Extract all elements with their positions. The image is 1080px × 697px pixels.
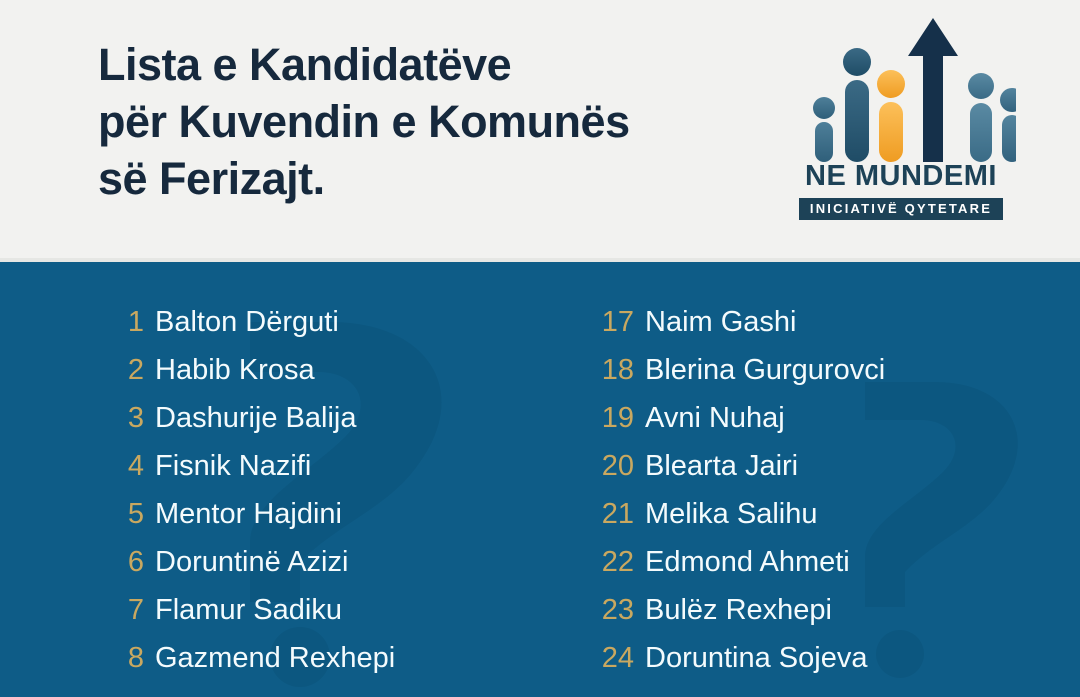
candidate-name: Gazmend Rexhepi [155,642,395,675]
candidate-name: Edmond Ahmeti [645,546,850,579]
candidate-number: 8 [98,642,144,675]
candidate-number: 18 [588,354,634,387]
list-item: 5 Mentor Hajdini [98,498,528,546]
list-item: 6 Doruntinë Azizi [98,546,528,594]
list-item: 4 Fisnik Nazifi [98,450,528,498]
candidate-list-body: 1 Balton Dërguti 2 Habib Krosa 3 Dashuri… [0,262,1080,697]
list-item: 7 Flamur Sadiku [98,594,528,642]
candidate-name: Dashurije Balija [155,402,357,435]
logo-tagline: INICIATIVË QYTETARE [799,198,1003,220]
people-arrow-logo-icon [786,14,1016,162]
candidate-name: Blerina Gurgurovci [645,354,885,387]
list-item: 24 Doruntina Sojeva [588,642,1038,690]
list-item: 1 Balton Dërguti [98,306,528,354]
list-item: 22 Edmond Ahmeti [588,546,1038,594]
candidate-number: 2 [98,354,144,387]
candidate-columns: 1 Balton Dërguti 2 Habib Krosa 3 Dashuri… [0,262,1080,697]
candidate-name: Mentor Hajdini [155,498,342,531]
poster-header: Lista e Kandidatëve për Kuvendin e Komun… [0,0,1080,260]
candidate-number: 23 [588,594,634,627]
candidate-number: 7 [98,594,144,627]
list-item: 20 Blearta Jairi [588,450,1038,498]
list-item: 2 Habib Krosa [98,354,528,402]
candidate-number: 17 [588,306,634,339]
candidate-name: Naim Gashi [645,306,797,339]
candidate-column-right: 17 Naim Gashi 18 Blerina Gurgurovci 19 A… [588,306,1038,690]
candidate-name: Doruntina Sojeva [645,642,867,675]
candidate-number: 21 [588,498,634,531]
list-item: 3 Dashurije Balija [98,402,528,450]
candidate-number: 4 [98,450,144,483]
title-line-1: Lista e Kandidatëve [98,36,738,93]
candidate-number: 1 [98,306,144,339]
candidate-column-left: 1 Balton Dërguti 2 Habib Krosa 3 Dashuri… [98,306,528,690]
candidate-list-poster: Lista e Kandidatëve për Kuvendin e Komun… [0,0,1080,697]
candidate-number: 5 [98,498,144,531]
candidate-name: Avni Nuhaj [645,402,785,435]
list-item: 23 Bulëz Rexhepi [588,594,1038,642]
candidate-name: Habib Krosa [155,354,315,387]
list-item: 18 Blerina Gurgurovci [588,354,1038,402]
candidate-name: Bulëz Rexhepi [645,594,832,627]
list-item: 17 Naim Gashi [588,306,1038,354]
candidate-number: 20 [588,450,634,483]
organization-logo: NE MUNDEMI INICIATIVË QYTETARE [786,14,1016,214]
list-item: 8 Gazmend Rexhepi [98,642,528,690]
list-item: 21 Melika Salihu [588,498,1038,546]
candidate-name: Balton Dërguti [155,306,339,339]
candidate-number: 6 [98,546,144,579]
candidate-number: 22 [588,546,634,579]
candidate-number: 24 [588,642,634,675]
title-line-3: së Ferizajt. [98,150,738,207]
page-title: Lista e Kandidatëve për Kuvendin e Komun… [98,36,738,207]
candidate-name: Fisnik Nazifi [155,450,311,483]
candidate-name: Doruntinë Azizi [155,546,348,579]
candidate-name: Flamur Sadiku [155,594,342,627]
list-item: 19 Avni Nuhaj [588,402,1038,450]
candidate-name: Melika Salihu [645,498,817,531]
candidate-number: 3 [98,402,144,435]
candidate-name: Blearta Jairi [645,450,798,483]
candidate-number: 19 [588,402,634,435]
logo-wordmark: NE MUNDEMI [786,160,1016,192]
title-line-2: për Kuvendin e Komunës [98,93,738,150]
